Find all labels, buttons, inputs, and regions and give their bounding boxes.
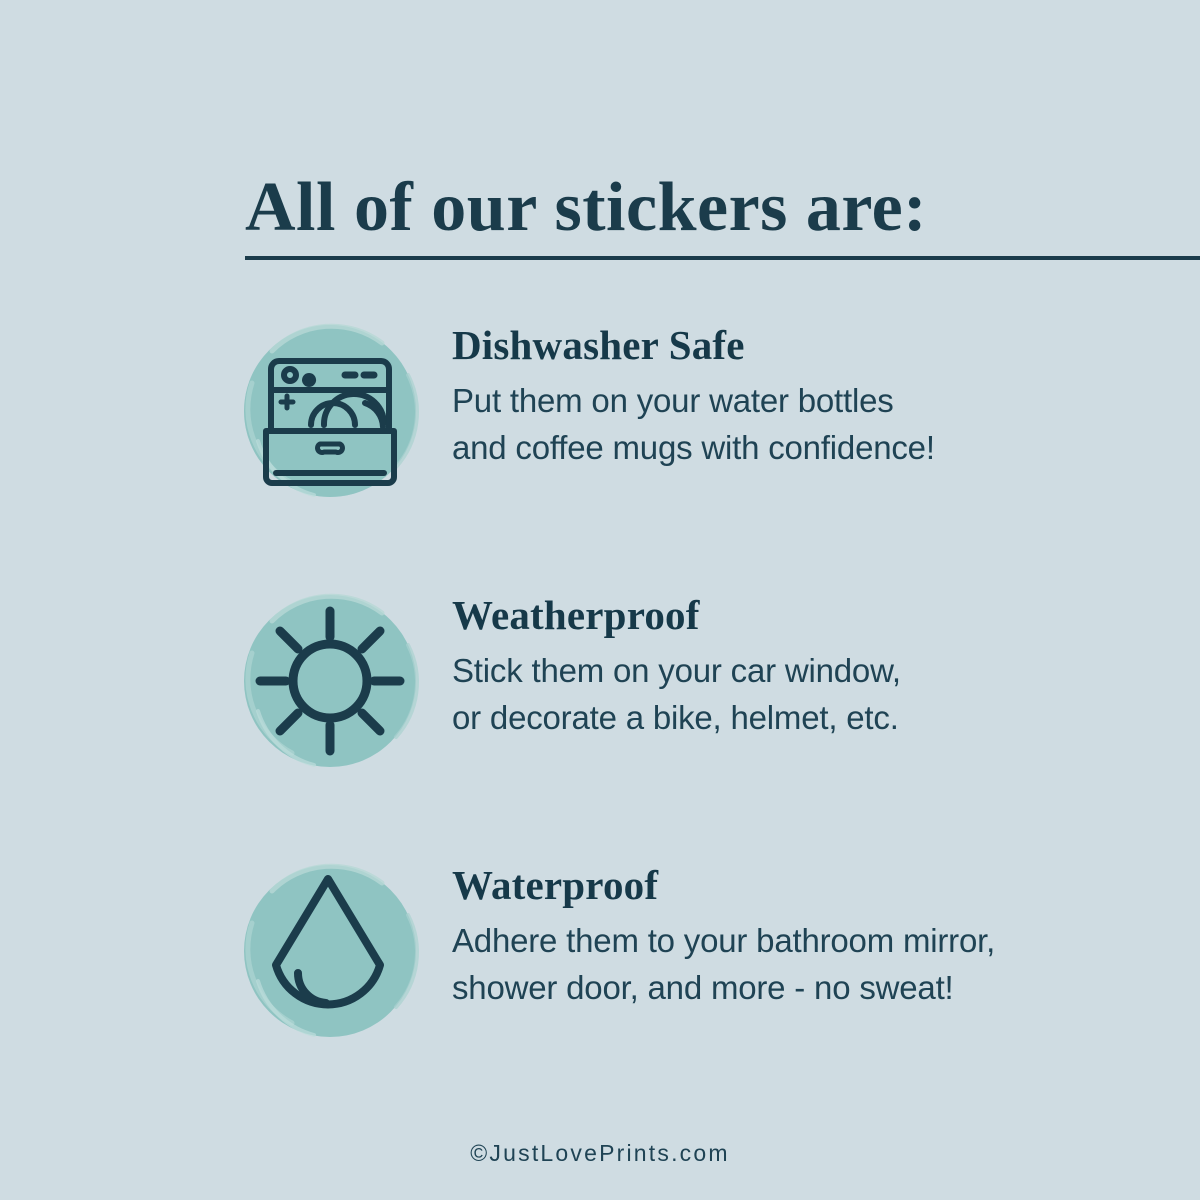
feature-description: Put them on your water bottles and coffe…	[452, 366, 1192, 472]
badge-weatherproof	[232, 583, 428, 779]
feature-description-line: and coffee mugs with confidence!	[452, 425, 1192, 472]
water-drop-icon	[232, 853, 428, 1049]
feature-text-weatherproof: Weatherproof Stick them on your car wind…	[452, 583, 1192, 742]
badge-dishwasher	[232, 313, 428, 509]
feature-description-line: Put them on your water bottles	[452, 378, 1192, 425]
sun-icon	[232, 583, 428, 779]
feature-heading: Waterproof	[452, 853, 1192, 906]
feature-text-waterproof: Waterproof Adhere them to your bathroom …	[452, 853, 1192, 1012]
dishwasher-icon	[232, 313, 428, 509]
feature-row-dishwasher-safe: Dishwasher Safe Put them on your water b…	[232, 313, 1192, 513]
feature-text-dishwasher: Dishwasher Safe Put them on your water b…	[452, 313, 1192, 472]
page-title: All of our stickers are:	[245, 171, 1005, 245]
footer-copyright: ©JustLovePrints.com	[0, 1140, 1200, 1167]
feature-heading: Dishwasher Safe	[452, 313, 1192, 366]
feature-row-weatherproof: Weatherproof Stick them on your car wind…	[232, 583, 1192, 783]
feature-description-line: Adhere them to your bathroom mirror,	[452, 918, 1192, 965]
feature-description-line: Stick them on your car window,	[452, 648, 1192, 695]
feature-description: Stick them on your car window, or decora…	[452, 636, 1192, 742]
feature-row-waterproof: Waterproof Adhere them to your bathroom …	[232, 853, 1192, 1053]
feature-heading: Weatherproof	[452, 583, 1192, 636]
feature-description: Adhere them to your bathroom mirror, sho…	[452, 906, 1192, 1012]
poster-canvas: All of our stickers are:	[0, 0, 1200, 1200]
badge-waterproof	[232, 853, 428, 1049]
title-divider	[245, 256, 1200, 260]
feature-description-line: shower door, and more - no sweat!	[452, 965, 1192, 1012]
feature-description-line: or decorate a bike, helmet, etc.	[452, 695, 1192, 742]
